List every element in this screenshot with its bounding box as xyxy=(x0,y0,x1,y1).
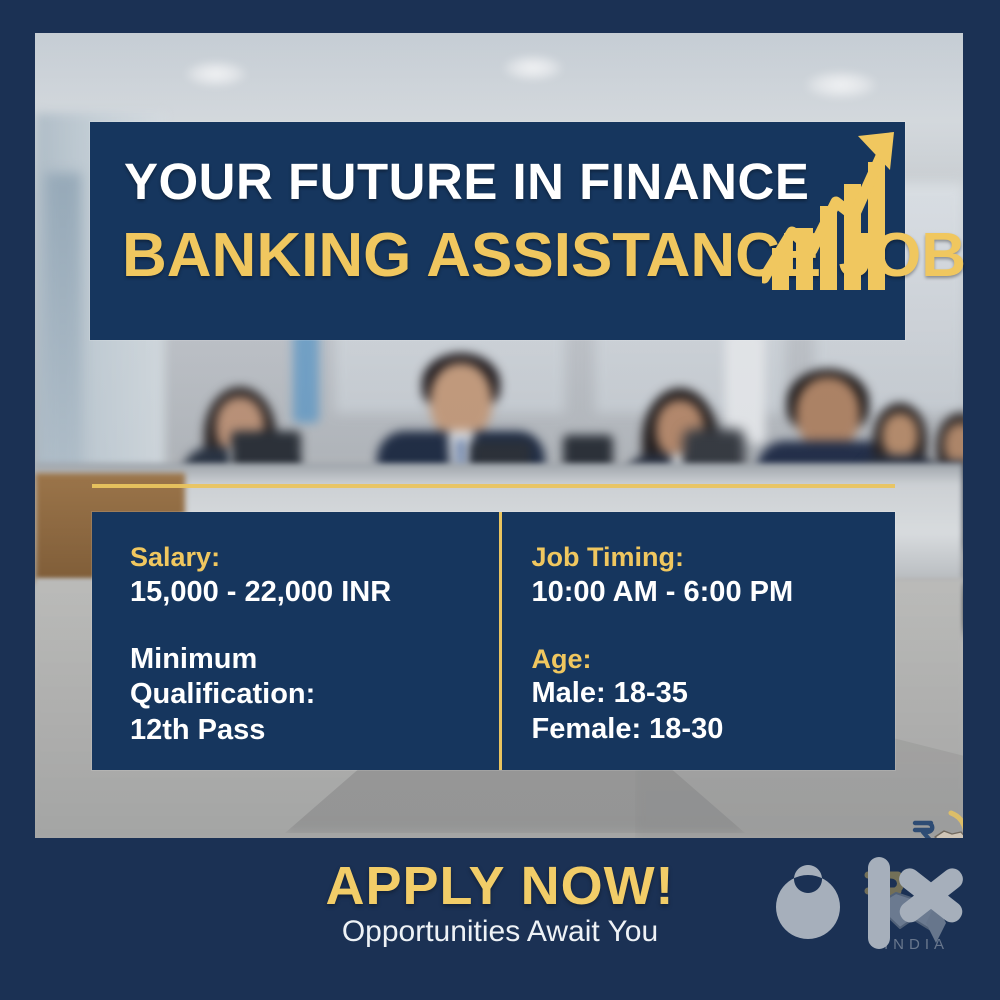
growth-chart-arrow-icon xyxy=(762,128,902,303)
field-value: 10:00 AM - 6:00 PM xyxy=(532,575,896,610)
field-qualification: Minimum Qualification: 12th Pass xyxy=(130,642,494,748)
ceiling-light xyxy=(805,71,877,99)
spacer xyxy=(532,616,896,642)
ceiling-light xyxy=(185,61,247,87)
apply-now-cta: APPLY NOW! xyxy=(0,855,1000,917)
field-label: Age: xyxy=(532,642,896,677)
field-value: 12th Pass xyxy=(130,713,494,748)
field-salary: Salary: 15,000 - 22,000 INR xyxy=(130,540,494,610)
headline-primary: YOUR FUTURE IN FINANCE xyxy=(124,152,809,211)
field-value: Male: 18-35 Female: 18-30 xyxy=(532,676,896,747)
spacer xyxy=(130,616,494,642)
title-banner: YOUR FUTURE IN FINANCE BANKING ASSISTANC… xyxy=(90,122,905,340)
apply-now-subtitle: Opportunities Await You xyxy=(0,915,1000,949)
details-column-left: Salary: 15,000 - 22,000 INR Minimum Qual… xyxy=(92,512,494,770)
job-details-panel: Salary: 15,000 - 22,000 INR Minimum Qual… xyxy=(92,512,895,770)
field-label: Salary: xyxy=(130,540,494,575)
gold-divider-line xyxy=(92,484,895,488)
field-job-timing: Job Timing: 10:00 AM - 6:00 PM xyxy=(532,540,896,610)
ceiling-light xyxy=(503,55,563,81)
field-value: 15,000 - 22,000 INR xyxy=(130,575,494,610)
rupee-handshake-icon xyxy=(907,807,963,838)
field-age: Age: Male: 18-35 Female: 18-30 xyxy=(532,642,896,747)
job-advertisement-poster: YOUR FUTURE IN FINANCE BANKING ASSISTANC… xyxy=(0,0,1000,1000)
field-label: Minimum Qualification: xyxy=(130,642,494,713)
field-label: Job Timing: xyxy=(532,540,896,575)
details-column-right: Job Timing: 10:00 AM - 6:00 PM Age: Male… xyxy=(494,512,896,770)
